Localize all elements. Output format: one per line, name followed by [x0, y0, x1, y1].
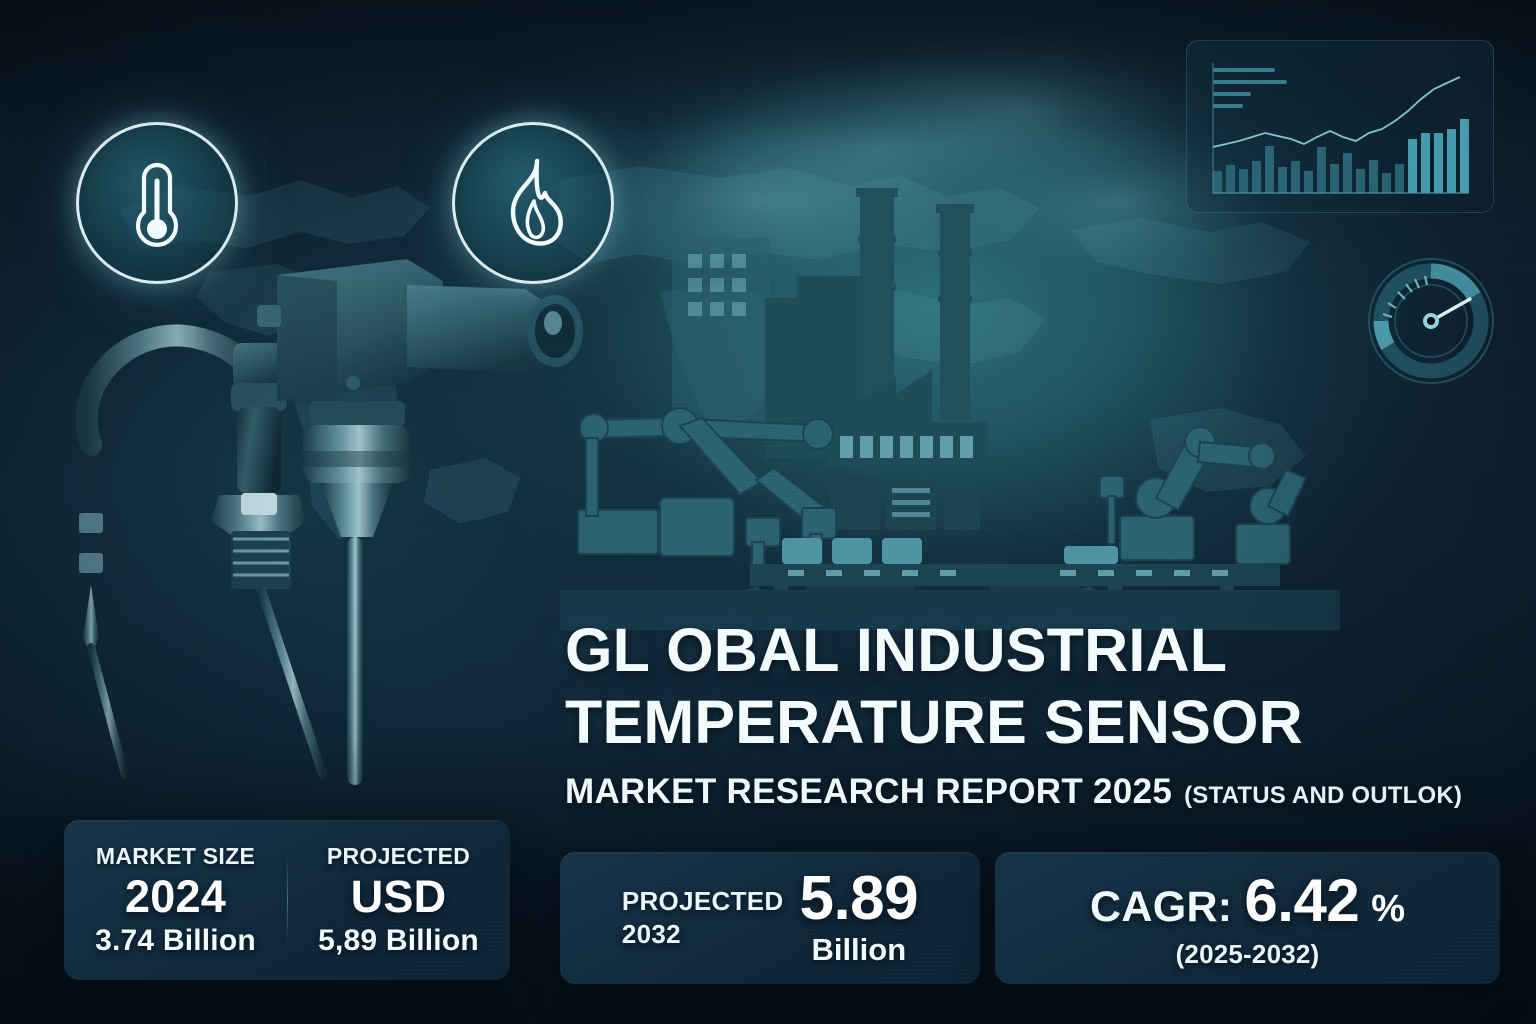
title-line-1: GL OBAL INDUSTRIAL — [565, 614, 1495, 686]
cagr-percent-sign: % — [1371, 888, 1405, 931]
projected-2032-year: 2032 — [622, 918, 784, 951]
title-line-2: TEMPERATURE SENSOR — [565, 686, 1495, 758]
projected-label-group: PROJECTED 2032 — [622, 885, 784, 951]
market-size-column-projected: PROJECTED USD 5,89 Billion — [287, 843, 510, 958]
projected-2032-unit: Billion — [811, 932, 906, 968]
flame-icon — [493, 155, 573, 251]
headline-block: GL OBAL INDUSTRIAL TEMPERATURE SENSOR MA… — [565, 614, 1495, 812]
projected-2032-label: PROJECTED — [622, 885, 784, 918]
cagr-range: (2025-2032) — [1176, 939, 1320, 970]
market-size-label: MARKET SIZE — [96, 843, 255, 870]
market-size-card: MARKET SIZE 2024 3.74 Billion PROJECTED … — [64, 820, 510, 980]
projected-2032-value: 5.89 — [799, 868, 918, 930]
projected-value-group: 5.89 Billion — [799, 868, 918, 968]
analytics-chart-panel — [1186, 40, 1494, 213]
market-size-column-2024: MARKET SIZE 2024 3.74 Billion — [64, 843, 287, 958]
subtitle-main: MARKET RESEARCH REPORT 2025 — [565, 772, 1172, 812]
flame-badge — [452, 122, 614, 284]
projected-amount: 5,89 Billion — [318, 924, 479, 958]
market-size-year: 2024 — [125, 872, 226, 922]
analytics-chart — [1187, 41, 1495, 214]
projected-currency: USD — [351, 872, 447, 922]
subtitle-row: MARKET RESEARCH REPORT 2025 (STATUS AND … — [565, 772, 1495, 812]
cagr-value-row: CAGR: 6.42 % — [1090, 866, 1405, 935]
cagr-value: 6.42 — [1244, 866, 1359, 935]
cagr-label: CAGR: — [1090, 883, 1232, 932]
thermometer-badge — [76, 122, 238, 284]
projected-label: PROJECTED — [327, 843, 470, 870]
subtitle-paren: (STATUS AND OUTLOK) — [1184, 782, 1462, 810]
cagr-card: CAGR: 6.42 % (2025-2032) — [995, 852, 1500, 984]
projected-2032-card: PROJECTED 2032 5.89 Billion — [560, 852, 980, 984]
market-size-amount: 3.74 Billion — [95, 924, 256, 958]
thermometer-icon — [120, 157, 194, 249]
gauge-dial — [1358, 248, 1504, 394]
infographic-poster: GL OBAL INDUSTRIAL TEMPERATURE SENSOR MA… — [0, 0, 1536, 1024]
